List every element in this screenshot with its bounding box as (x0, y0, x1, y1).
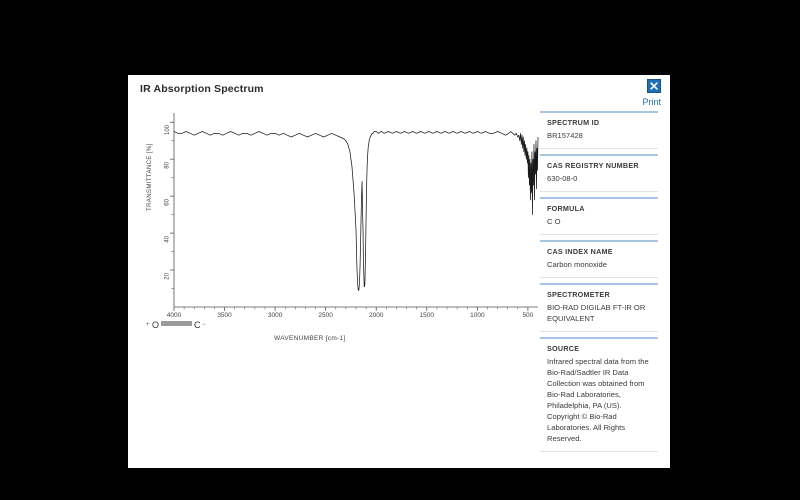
info-card-value: C O (547, 216, 651, 227)
spectrum-plot (142, 107, 542, 347)
right-atom-label: C (194, 320, 201, 330)
ir-spectrum-chart: TRANSMITTANCE [%] WAVENUMBER [cm-1] 2040… (142, 107, 542, 347)
right-charge-label: − (202, 322, 206, 328)
info-card: FORMULAC O (540, 197, 658, 235)
info-card-title: FORMULA (547, 204, 651, 213)
info-card-title: SPECTRUM ID (547, 118, 651, 127)
info-card-title: SPECTROMETER (547, 290, 651, 299)
spectrum-info-panel: SPECTRUM IDBR157428CAS REGISTRY NUMBER63… (540, 111, 658, 457)
info-card-title: CAS INDEX NAME (547, 247, 651, 256)
info-card-value: 630-08-0 (547, 173, 651, 184)
left-atom-label: O (152, 320, 159, 330)
info-card-value: BR157428 (547, 130, 651, 141)
info-card: SPECTROMETERBIO-RAD DIGILAB FT-IR OR EQU… (540, 283, 658, 332)
molecular-structure-diagram: + O C − (144, 313, 254, 337)
x-axis-tick-label: 1000 (470, 312, 484, 319)
y-axis-tick-label: 40 (165, 236, 171, 243)
info-card-title: CAS REGISTRY NUMBER (547, 161, 651, 170)
close-icon[interactable] (647, 79, 661, 93)
page-title: IR Absorption Spectrum (140, 83, 264, 95)
y-axis-tick-label: 80 (165, 162, 171, 169)
print-link[interactable]: Print (642, 97, 661, 107)
info-card: CAS INDEX NAMECarbon monoxide (540, 240, 658, 278)
left-charge-label: + (146, 322, 150, 328)
x-axis-tick-label: 2000 (369, 312, 383, 319)
y-axis-tick-label: 100 (165, 125, 171, 135)
info-card: SPECTRUM IDBR157428 (540, 111, 658, 149)
triple-bond-glyph (161, 321, 192, 326)
y-axis-tick-label: 60 (165, 199, 171, 206)
x-axis-tick-label: 3000 (268, 312, 282, 319)
info-card-value: BIO-RAD DIGILAB FT-IR OR EQUIVALENT (547, 302, 651, 324)
x-axis-tick-label: 2500 (318, 312, 332, 319)
info-card-value: Infrared spectral data from the Bio-Rad/… (547, 356, 651, 444)
info-card-title: SOURCE (547, 344, 651, 353)
spectrum-page: IR Absorption Spectrum Print TRANSMITTAN… (128, 75, 670, 468)
info-card-value: Carbon monoxide (547, 259, 651, 270)
y-axis-tick-label: 20 (165, 273, 171, 280)
info-card: CAS REGISTRY NUMBER630-08-0 (540, 154, 658, 192)
x-axis-tick-label: 500 (522, 312, 533, 319)
x-axis-tick-label: 1500 (420, 312, 434, 319)
info-card: SOURCEInfrared spectral data from the Bi… (540, 337, 658, 452)
